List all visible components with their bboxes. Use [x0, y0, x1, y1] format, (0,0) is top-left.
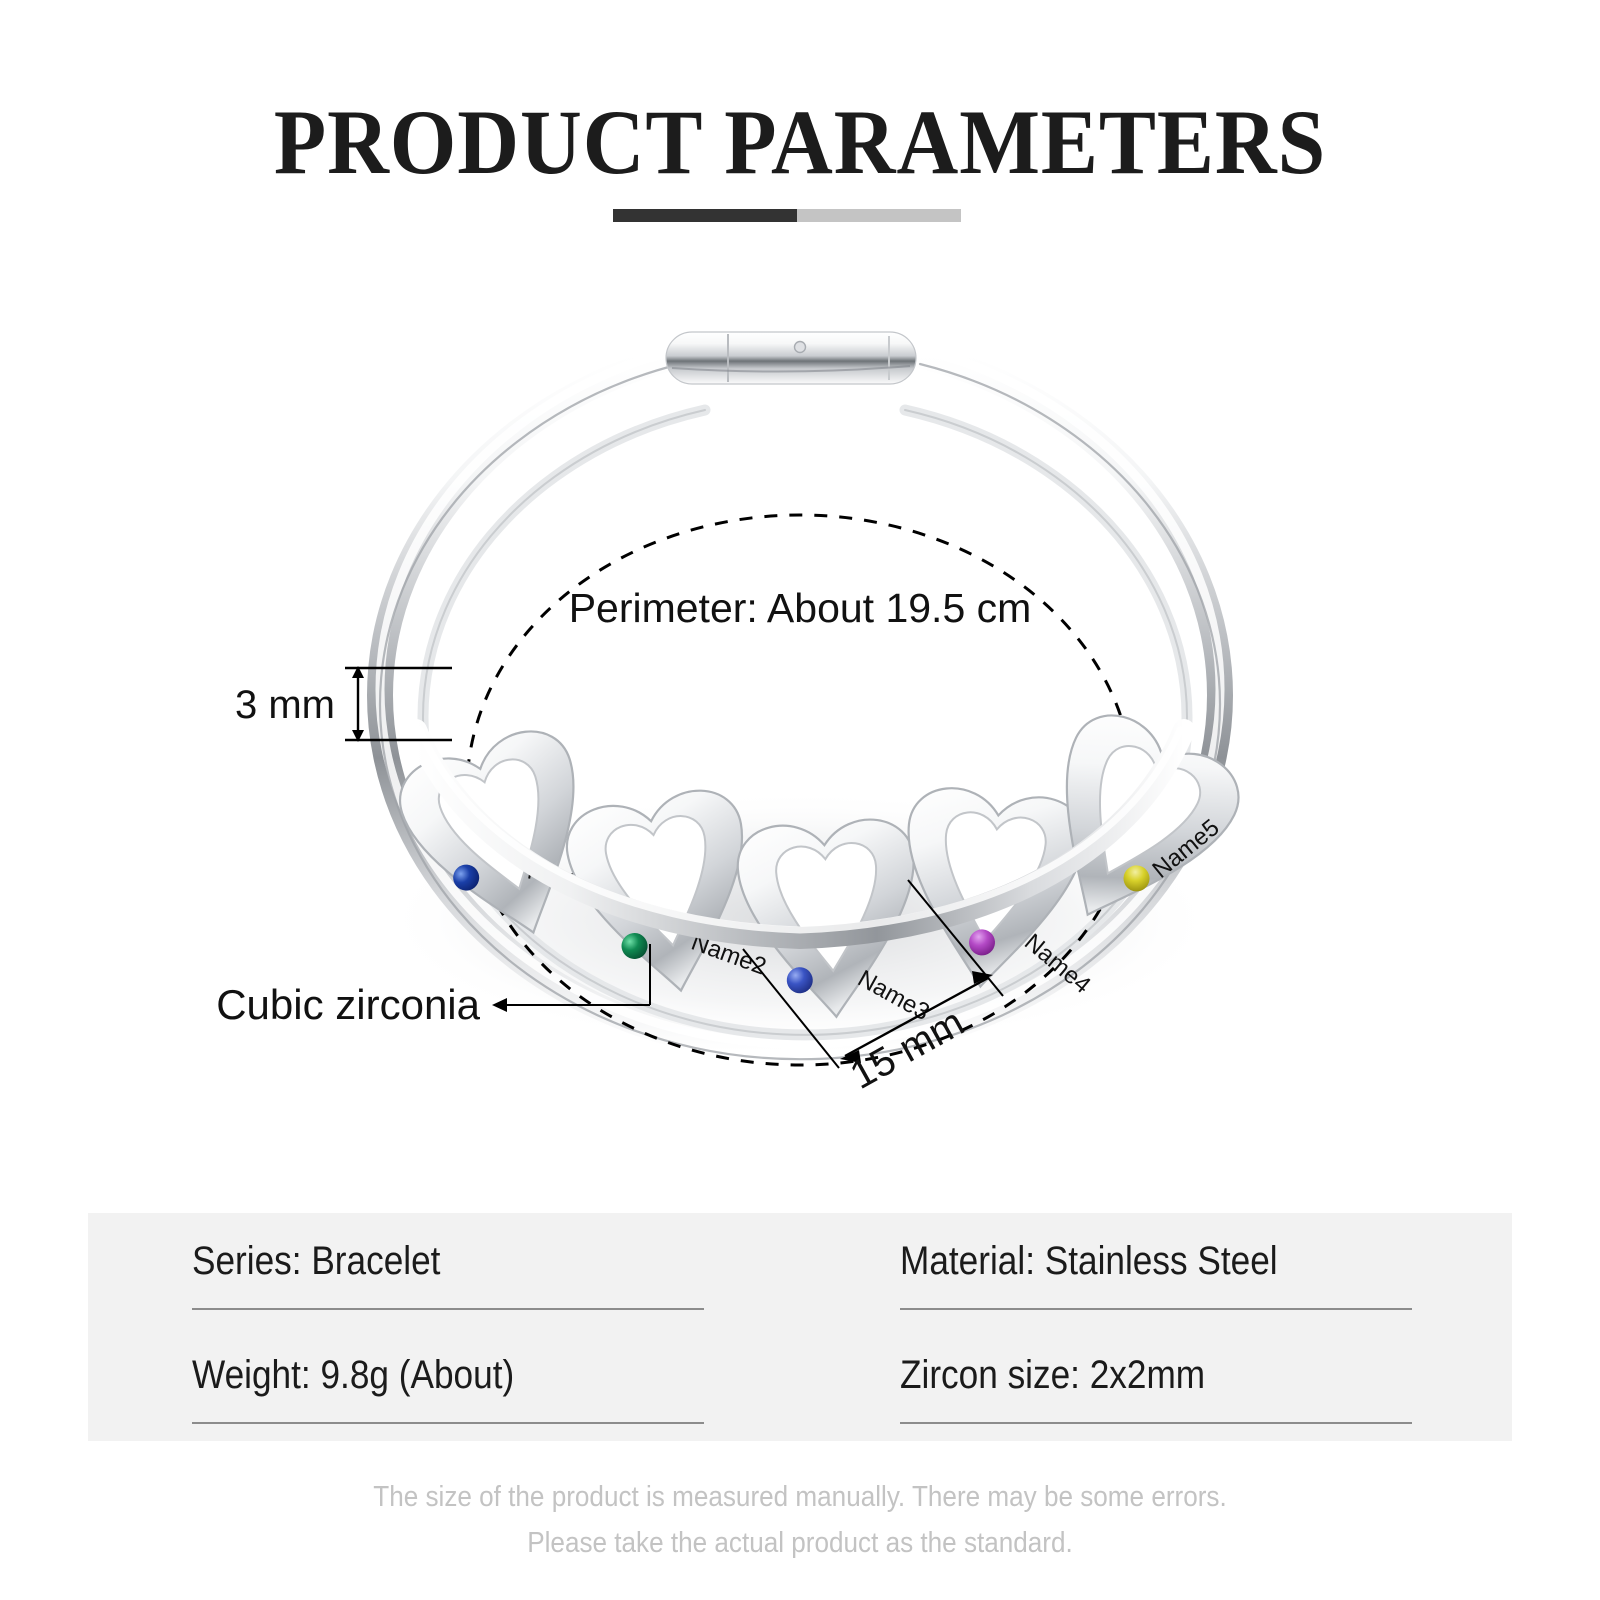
- spec-series-rule: [192, 1308, 704, 1310]
- divider-light-segment: [797, 209, 961, 222]
- spec-row-series: Series: Bracelet: [192, 1213, 704, 1327]
- clasp-button-icon: [795, 342, 806, 353]
- spec-row-zircon-size: Zircon size: 2x2mm: [900, 1327, 1412, 1441]
- spec-zircon-size-text: Zircon size: 2x2mm: [900, 1327, 1351, 1395]
- page-title: PRODUCT PARAMETERS: [56, 96, 1544, 188]
- bracelet-clasp: [666, 332, 916, 384]
- disclaimer-footer: The size of the product is measured manu…: [0, 1474, 1600, 1566]
- product-parameters-page: PRODUCT PARAMETERS: [0, 0, 1600, 1600]
- perimeter-label: Perimeter: About 19.5 cm: [569, 585, 1032, 631]
- disclaimer-line-2: Please take the actual product as the st…: [80, 1520, 1520, 1566]
- spec-zircon-size-rule: [900, 1422, 1412, 1424]
- spec-material-text: Material: Stainless Steel: [900, 1213, 1351, 1281]
- spec-weight-rule: [192, 1422, 704, 1424]
- spec-material-rule: [900, 1308, 1412, 1310]
- title-divider: [613, 209, 961, 222]
- spec-weight-text: Weight: 9.8g (About): [192, 1327, 643, 1395]
- spec-series-text: Series: Bracelet: [192, 1213, 643, 1281]
- specifications-panel: Series: Bracelet Weight: 9.8g (About) Ma…: [88, 1213, 1512, 1441]
- divider-dark-segment: [613, 209, 797, 222]
- cubic-zirconia-label: Cubic zirconia: [216, 981, 480, 1028]
- spec-row-material: Material: Stainless Steel: [900, 1213, 1412, 1327]
- thickness-label: 3 mm: [235, 683, 335, 727]
- product-illustration: Perimeter: About 19.5 cm Name1 Name2: [0, 260, 1600, 1140]
- spec-row-weight: Weight: 9.8g (About): [192, 1327, 704, 1441]
- spec-column-left: Series: Bracelet Weight: 9.8g (About): [88, 1213, 800, 1441]
- spec-column-right: Material: Stainless Steel Zircon size: 2…: [800, 1213, 1512, 1441]
- disclaimer-line-1: The size of the product is measured manu…: [80, 1474, 1520, 1520]
